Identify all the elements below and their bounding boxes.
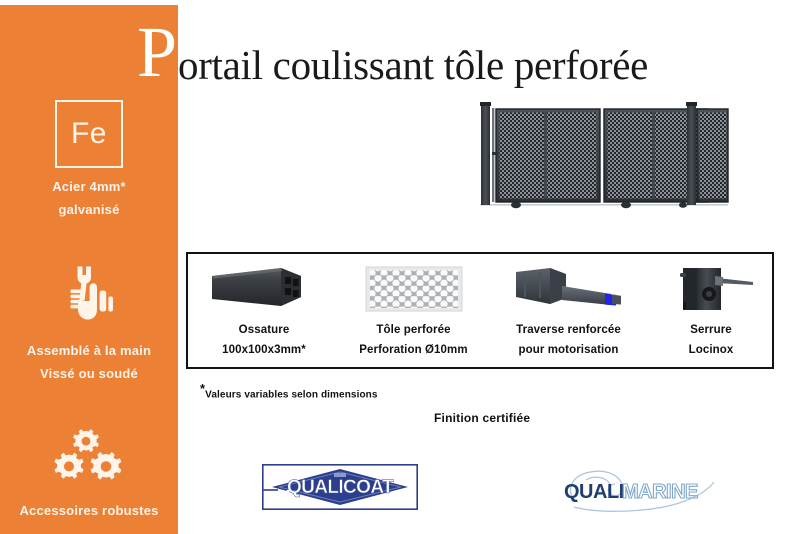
- title-dropcap: P: [137, 16, 177, 88]
- poster-page: Fe Acier 4mm* galvanisé: [0, 0, 800, 534]
- feature-title: Ossature: [239, 324, 290, 336]
- feature-item: Serrure Locinox: [650, 254, 772, 371]
- gears-icon: [0, 423, 178, 490]
- steel-profile-icon: [209, 263, 319, 315]
- feature-subtitle: pour motorisation: [518, 344, 618, 356]
- feature-subtitle: Perforation Ø10mm: [359, 344, 467, 356]
- title-text: ortail coulissant tôle perforée: [178, 41, 648, 89]
- svg-text:QUALICOAT: QUALICOAT: [287, 477, 394, 498]
- sliding-gate-perforated-sheet-image: [478, 100, 730, 214]
- sidebar-item-label: Acier 4mm*: [0, 176, 178, 199]
- feature-item: Ossature 100x100x3mm*: [188, 254, 340, 371]
- svg-text:MARINE: MARINE: [622, 481, 698, 503]
- feature-title: Traverse renforcée: [516, 324, 621, 336]
- sidebar-item-label: galvanisé: [0, 199, 178, 222]
- feature-title: Serrure: [690, 324, 732, 336]
- lock-icon: [661, 263, 761, 315]
- sidebar-item-label: Vissé ou soudé: [0, 363, 178, 386]
- feature-item: Traverse renforcée pour motorisation: [487, 254, 650, 371]
- feature-title: Tôle perforée: [376, 324, 450, 336]
- certification-heading: Finition certifiée: [434, 411, 530, 425]
- footnote: *Valeurs variables selon dimensions: [200, 381, 378, 400]
- motorisation-crossbar-icon: [506, 263, 631, 315]
- sidebar-item-label: Assemblé à la main: [0, 340, 178, 363]
- feature-item: Tôle perforée Perforation Ø10mm: [340, 254, 487, 371]
- sidebar-item-accessoires: Accessoires robustes: [0, 423, 178, 523]
- footnote-text: Valeurs variables selon dimensions: [205, 389, 377, 400]
- fe-symbol-label: Fe: [71, 117, 107, 151]
- qualicoat-logo: QUALICOAT: [262, 464, 418, 510]
- sidebar-item-assemblage: Assemblé à la main Vissé ou soudé: [0, 263, 178, 386]
- qualimarine-logo: QUALI MARINE: [556, 462, 726, 514]
- sidebar-item-label: Accessoires robustes: [0, 500, 178, 523]
- hand-wrench-icon: [0, 263, 178, 330]
- sidebar-item-acier: Fe Acier 4mm* galvanisé: [0, 100, 178, 222]
- page-title: P ortail coulissant tôle perforée: [120, 22, 780, 84]
- feature-subtitle: 100x100x3mm*: [222, 344, 306, 356]
- fe-element-box-icon: Fe: [55, 100, 123, 168]
- feature-subtitle: Locinox: [689, 344, 734, 356]
- svg-text:QUALI: QUALI: [564, 481, 624, 503]
- perforated-sheet-icon: [363, 263, 465, 315]
- features-box: Ossature 100x100x3mm*: [186, 252, 774, 369]
